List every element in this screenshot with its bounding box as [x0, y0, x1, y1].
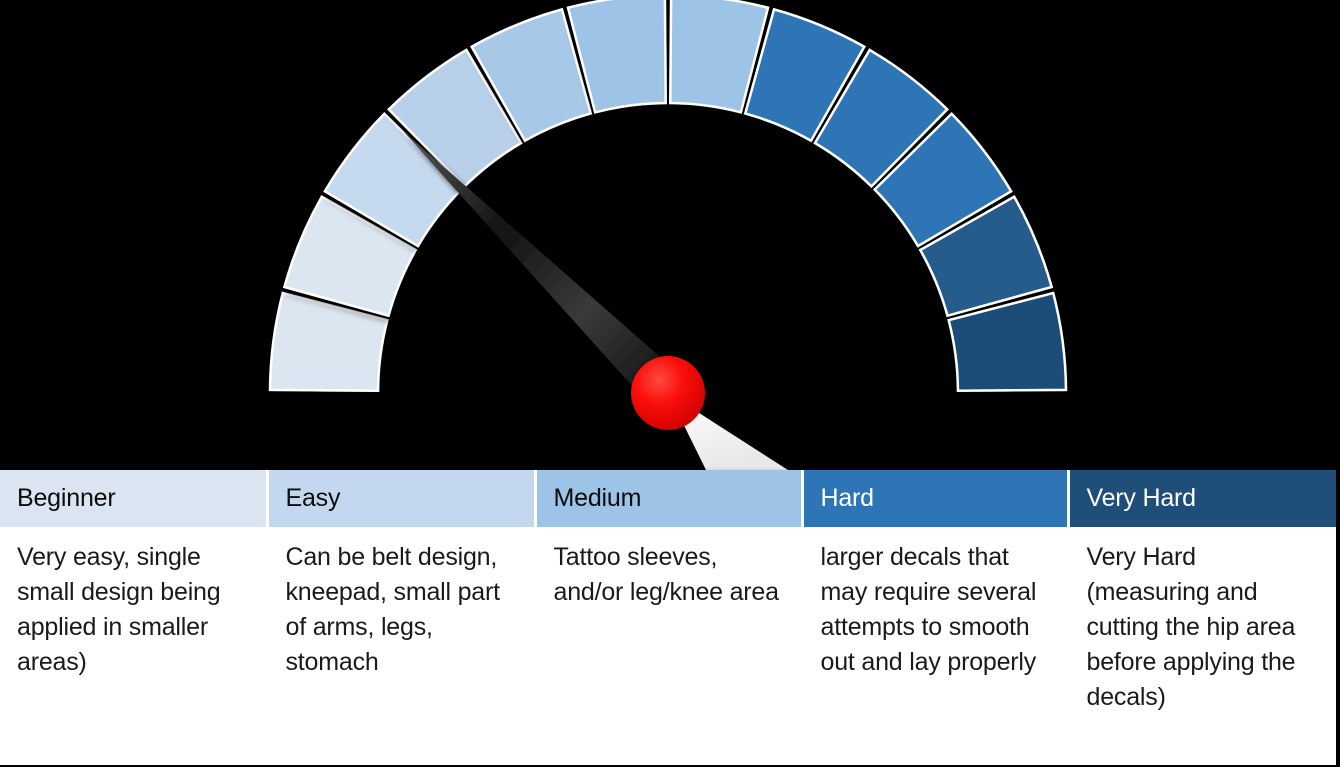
gauge-svg	[0, 0, 1340, 480]
gauge-hub	[631, 356, 705, 430]
gauge-segments	[270, 0, 1066, 391]
difficulty-matrix-table: Beginner Easy Medium Hard Very Hard Very…	[0, 470, 1336, 765]
slide-canvas: Beginner Easy Medium Hard Very Hard Very…	[0, 0, 1340, 767]
column-header-medium[interactable]: Medium	[535, 470, 802, 529]
column-header-hard[interactable]: Hard	[802, 470, 1068, 529]
table-header-row: Beginner Easy Medium Hard Very Hard	[0, 470, 1336, 529]
cell-medium-description[interactable]: Tattoo sleeves, and/or leg/knee area	[535, 529, 802, 766]
cell-beginner-description[interactable]: Very easy, single small design being app…	[0, 529, 267, 766]
cell-very-hard-description[interactable]: Very Hard (measuring and cutting the hip…	[1068, 529, 1336, 766]
difficulty-gauge	[0, 0, 1340, 480]
column-header-beginner[interactable]: Beginner	[0, 470, 267, 529]
cell-easy-description[interactable]: Can be belt design, kneepad, small part …	[267, 529, 535, 766]
cell-hard-description[interactable]: larger decals that may require several a…	[802, 529, 1068, 766]
gauge-needle	[403, 131, 684, 408]
column-header-easy[interactable]: Easy	[267, 470, 535, 529]
column-header-very-hard[interactable]: Very Hard	[1068, 470, 1336, 529]
table-row: Very easy, single small design being app…	[0, 529, 1336, 766]
